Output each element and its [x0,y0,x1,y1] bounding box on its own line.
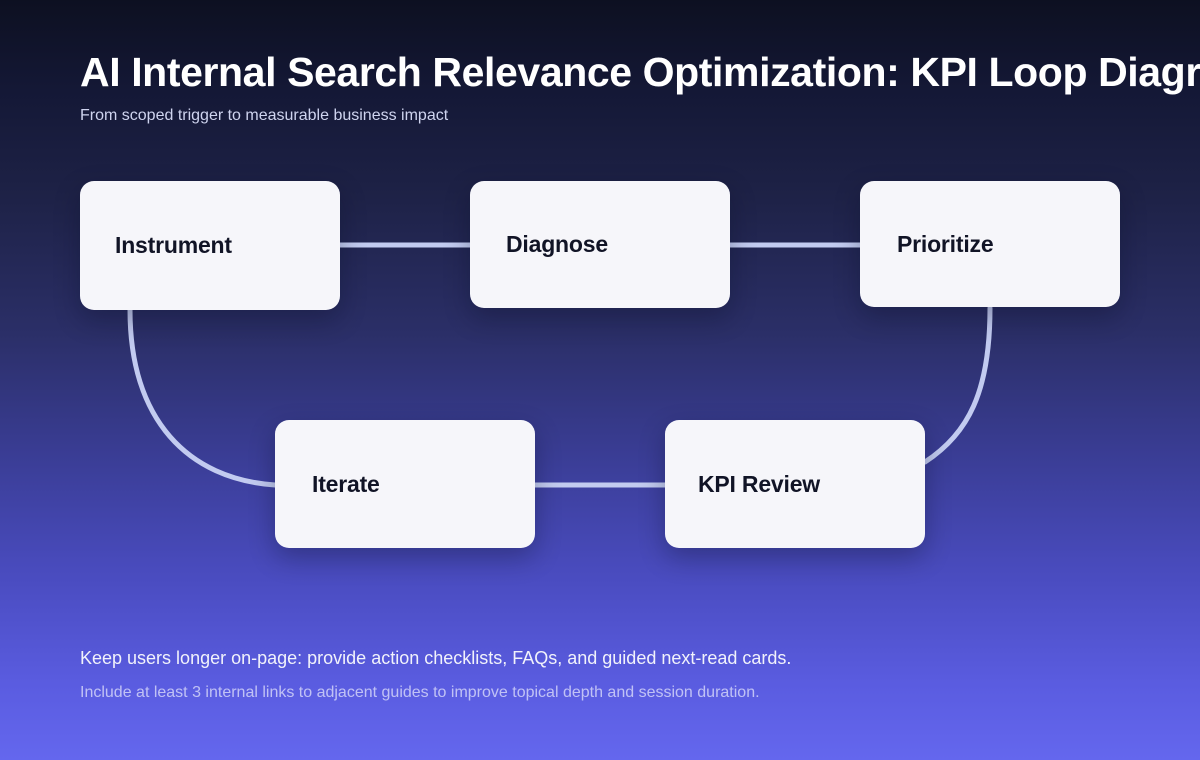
node-diagnose-label: Diagnose [506,231,608,258]
footer-secondary-note: Include at least 3 internal links to adj… [80,682,1140,704]
edge-prioritize-to-kpi-review [925,308,990,462]
footer: Keep users longer on-page: provide actio… [80,645,1140,704]
edge-iterate-to-instrument [130,310,275,485]
diagram-canvas: AI Internal Search Relevance Optimizatio… [0,0,1200,760]
node-iterate-label: Iterate [312,471,380,498]
node-iterate[interactable]: Iterate [275,420,535,548]
node-instrument[interactable]: Instrument [80,181,340,310]
node-kpi-review-label: KPI Review [698,471,820,498]
node-prioritize[interactable]: Prioritize [860,181,1120,307]
node-prioritize-label: Prioritize [897,231,993,258]
node-diagnose[interactable]: Diagnose [470,181,730,308]
node-kpi-review[interactable]: KPI Review [665,420,925,548]
footer-primary-note: Keep users longer on-page: provide actio… [80,645,1140,671]
node-instrument-label: Instrument [115,232,232,259]
